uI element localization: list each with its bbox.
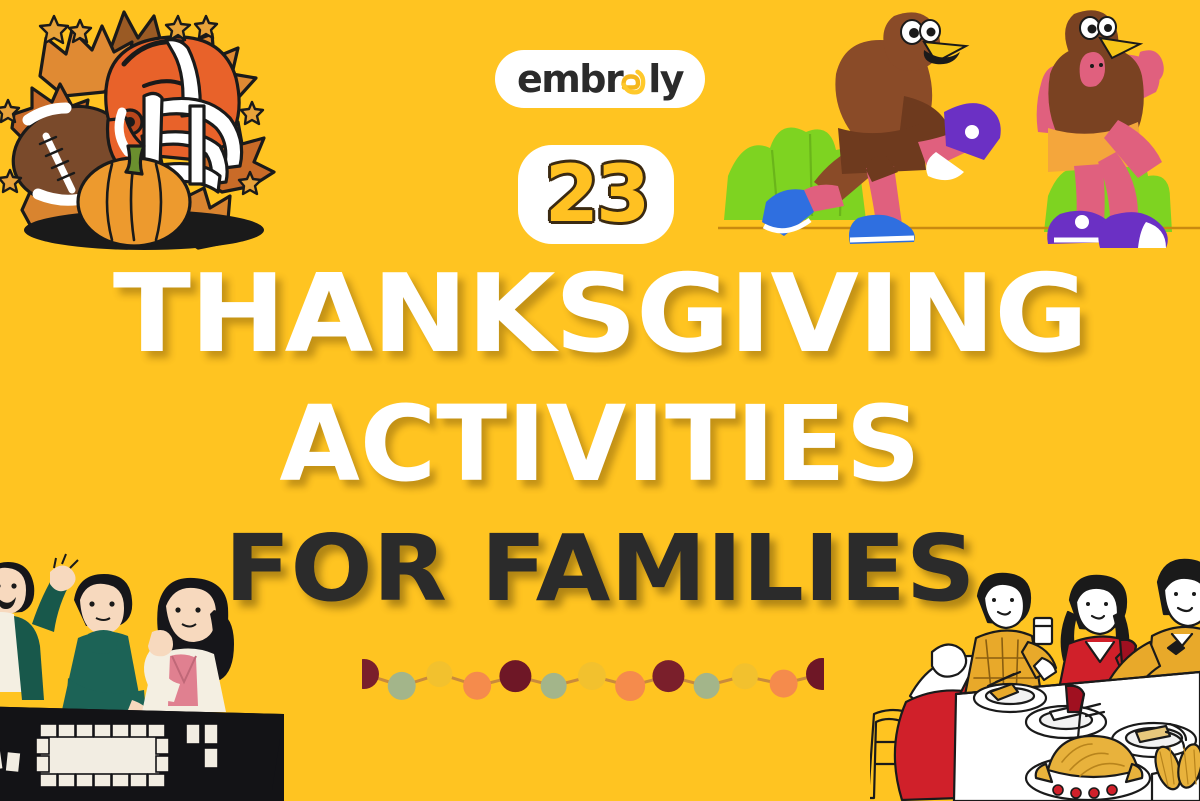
headline-line-activities: ACTIVITIES: [0, 394, 1200, 496]
garland-dot: [578, 662, 606, 690]
count-badge-number: 23: [545, 156, 648, 234]
garland-dot: [463, 672, 491, 700]
garland-dot: [362, 659, 379, 689]
embrely-logo[interactable]: embr ly: [495, 50, 705, 108]
family-board-game-illustration: [0, 528, 284, 801]
headline-line-thanksgiving: THANKSGIVING: [0, 262, 1200, 368]
garland-dot: [388, 672, 416, 700]
logo-text-before: embr: [517, 60, 622, 98]
garland-dot: [770, 670, 798, 698]
logo-wordmark: embr ly: [517, 60, 683, 98]
thanksgiving-dinner-illustration: [870, 546, 1200, 801]
garland-dot: [694, 673, 720, 699]
garland-dot: [615, 671, 645, 701]
logo-text-after: ly: [648, 60, 683, 98]
garland-dot: [806, 658, 824, 690]
dot-garland-divider: [362, 652, 824, 702]
garland-dot: [652, 660, 684, 692]
garland-dot: [541, 673, 567, 699]
garland-dot: [426, 661, 452, 687]
count-badge: 23: [518, 145, 674, 244]
garland-dot: [499, 660, 531, 692]
thanksgiving-banner: embr ly 23 THANKSGIVING ACTIVITIES FOR F…: [0, 0, 1200, 801]
garland-dot: [732, 663, 758, 689]
stylized-e-swirl-icon: [621, 64, 648, 94]
running-turkey-characters-illustration: [718, 0, 1200, 252]
football-helmet-pumpkin-illustration: [0, 0, 294, 256]
